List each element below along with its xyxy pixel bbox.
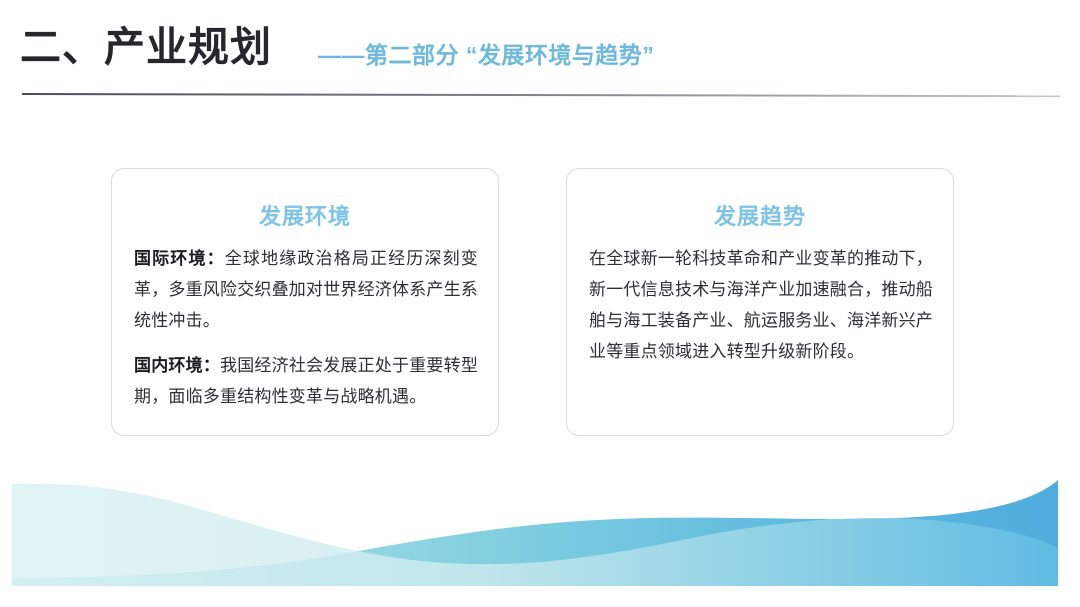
header-divider [22,93,1060,97]
paragraph-label: 国内环境 [134,356,203,375]
card-paragraph: 国内环境：我国经济社会发展正处于重要转型期，面临多重结构性变革与战略机遇。 [134,350,478,412]
page-title: 二、产业规划 [20,22,272,72]
card-body: 在全球新一轮科技革命和产业变革的推动下，新一代信息技术与海洋产业加速融合，推动船… [589,243,933,367]
card-heading: 发展趋势 [567,199,953,231]
card-development-trend: 发展趋势 在全球新一轮科技革命和产业变革的推动下，新一代信息技术与海洋产业加速融… [566,168,954,436]
slide-header: 二、产业规划 ——第二部分 “发展环境与趋势” [0,0,1080,100]
cards-container: 发展环境 国际环境：全球地缘政治格局正经历深刻变革，多重风险交织叠加对世界经济体… [0,168,1080,440]
card-heading: 发展环境 [112,199,498,231]
card-paragraph: 在全球新一轮科技革命和产业变革的推动下，新一代信息技术与海洋产业加速融合，推动船… [589,243,933,367]
paragraph-separator: ： [203,356,220,375]
card-development-environment: 发展环境 国际环境：全球地缘政治格局正经历深刻变革，多重风险交织叠加对世界经济体… [111,168,499,436]
page-subtitle: ——第二部分 “发展环境与趋势” [318,38,654,72]
wave-svg [12,462,1058,586]
card-body: 国际环境：全球地缘政治格局正经历深刻变革，多重风险交织叠加对世界经济体系产生系统… [134,243,478,412]
slide: 二、产业规划 ——第二部分 “发展环境与趋势” 发展环境 国际环境：全球地缘政治… [0,0,1080,607]
paragraph-separator: ： [207,249,225,268]
wave-decoration [12,462,1058,586]
paragraph-label: 国际环境 [134,249,207,268]
paragraph-text: 在全球新一轮科技革命和产业变革的推动下，新一代信息技术与海洋产业加速融合，推动船… [589,249,933,361]
card-paragraph: 国际环境：全球地缘政治格局正经历深刻变革，多重风险交织叠加对世界经济体系产生系统… [134,243,478,336]
